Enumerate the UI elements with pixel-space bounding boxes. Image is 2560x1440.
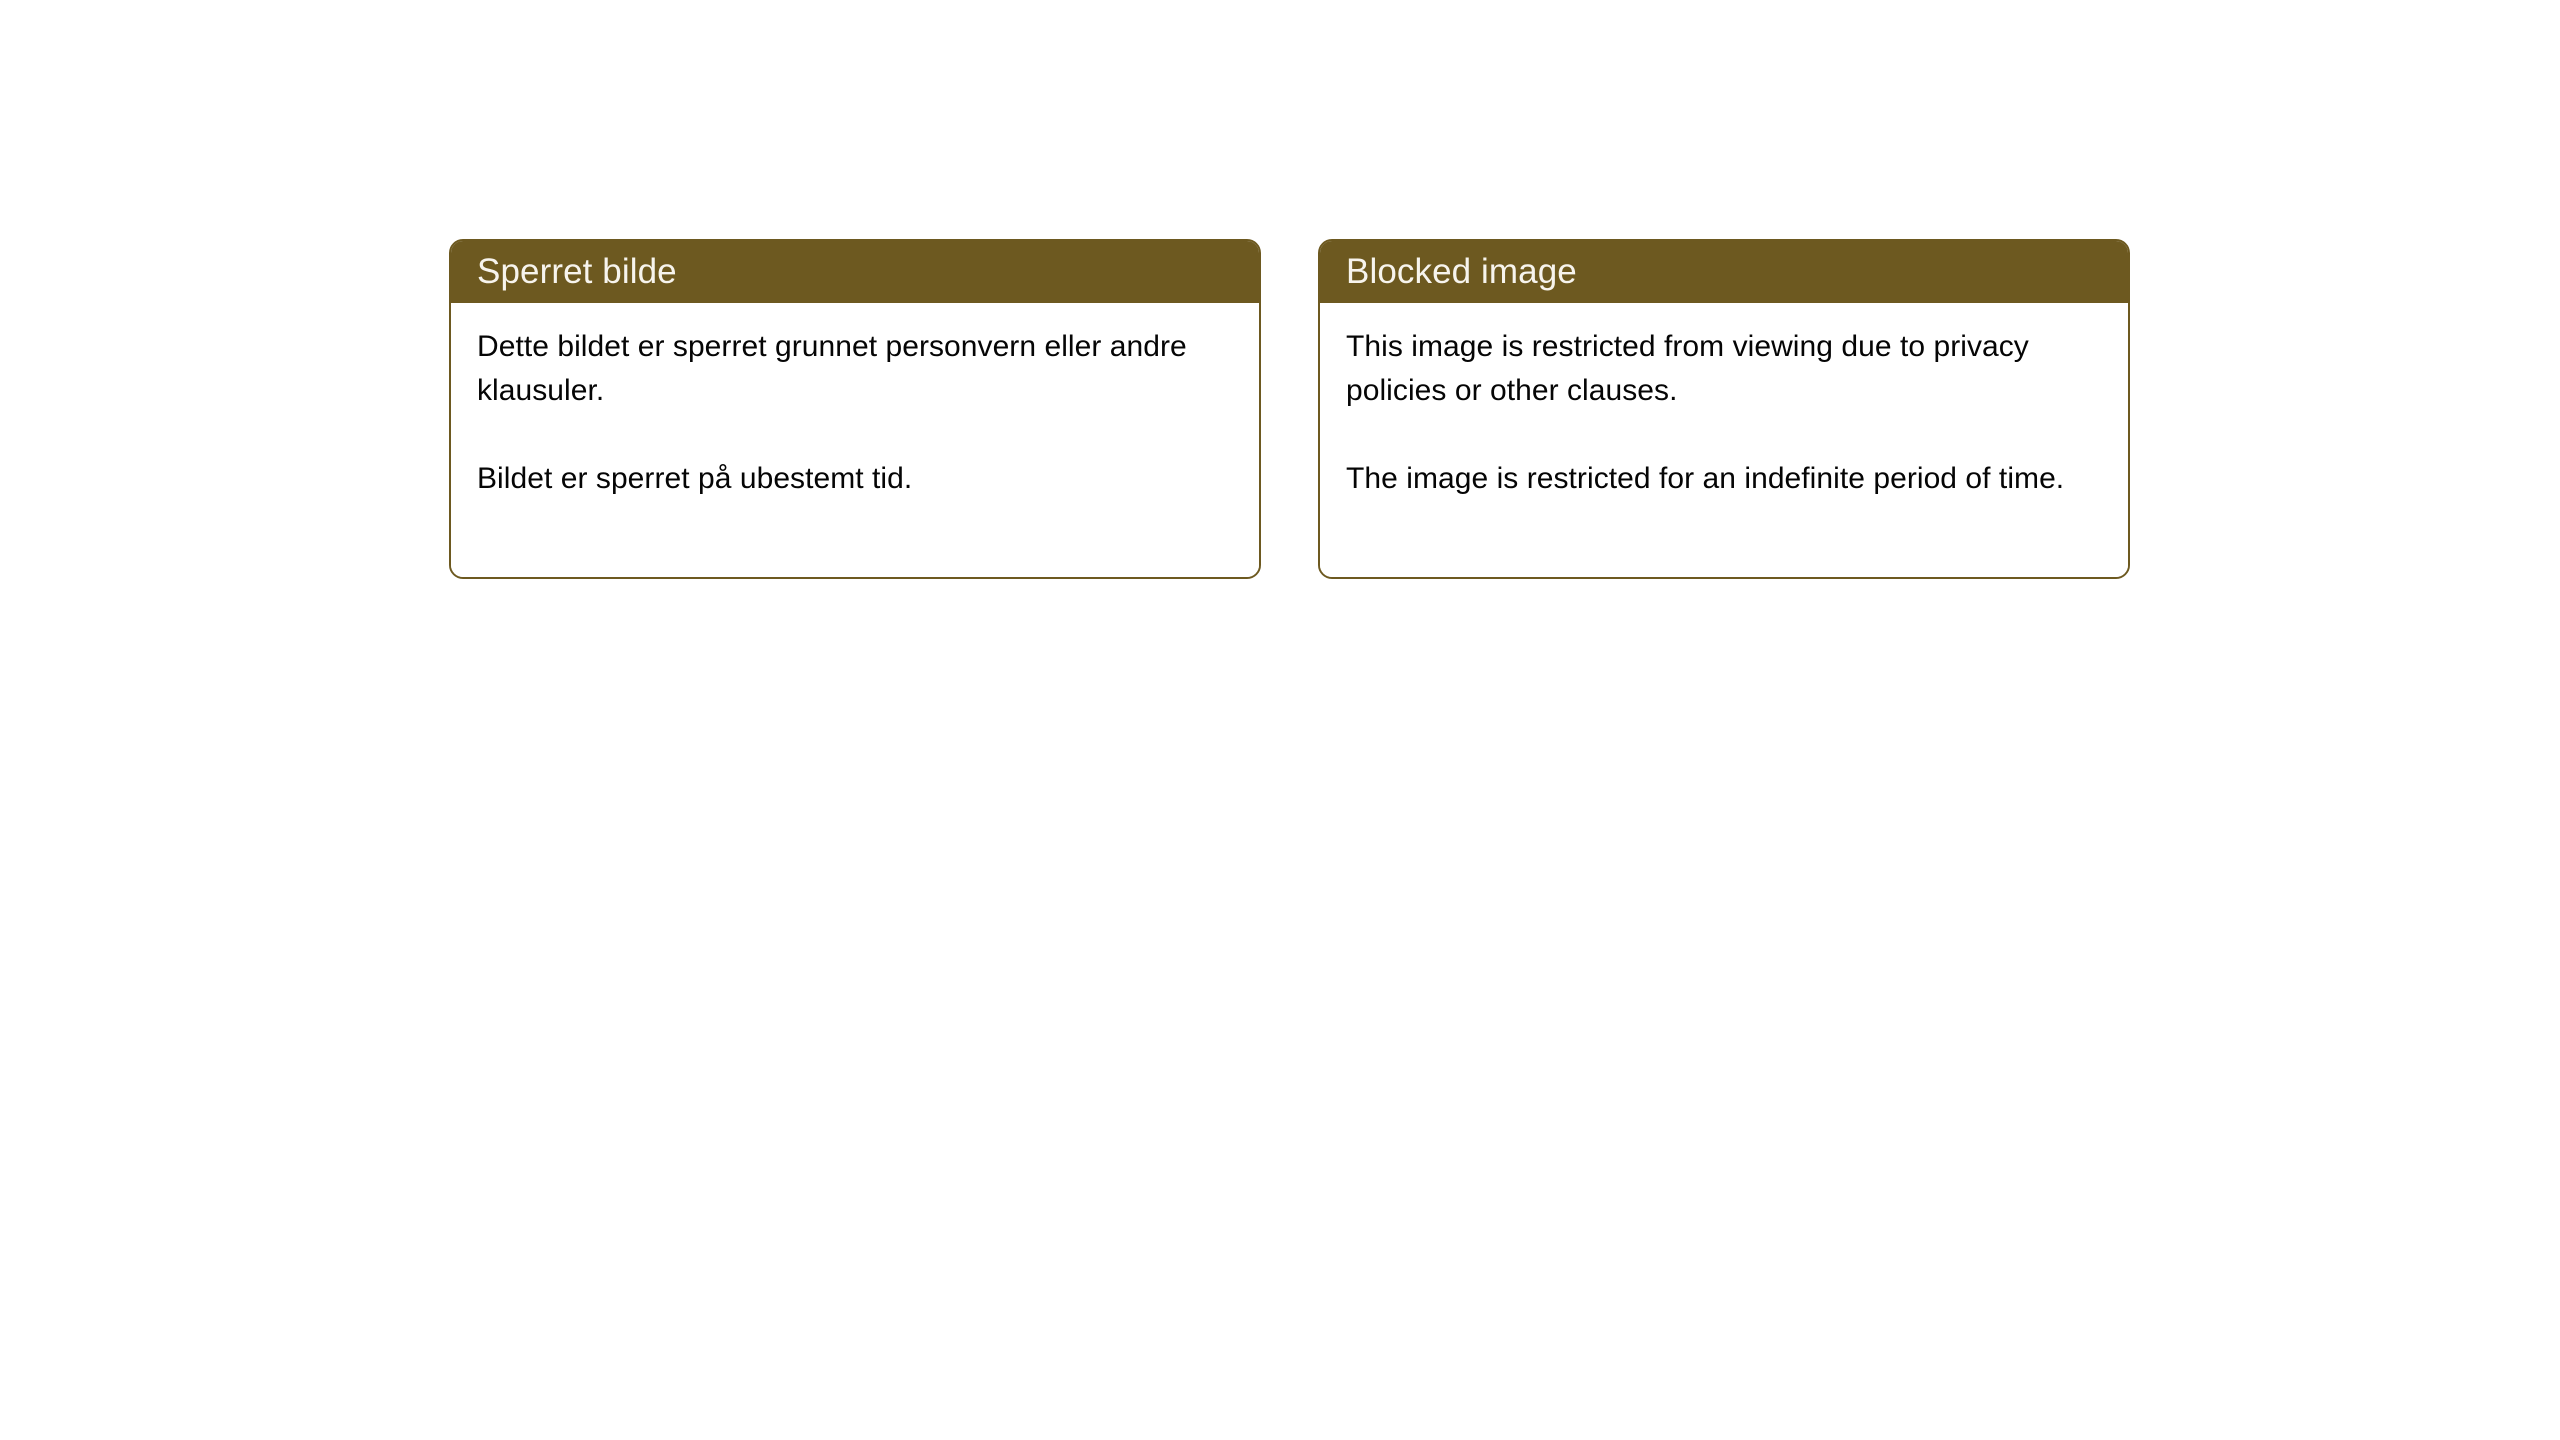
card-paragraph-secondary-norwegian: Bildet er sperret på ubestemt tid. — [477, 457, 1233, 501]
blocked-image-card-norwegian: Sperret bilde Dette bildet er sperret gr… — [449, 239, 1261, 579]
card-paragraph-primary-english: This image is restricted from viewing du… — [1346, 325, 2102, 413]
paragraph-spacer — [1346, 413, 2102, 457]
card-header-english: Blocked image — [1320, 241, 2128, 303]
card-paragraph-primary-norwegian: Dette bildet er sperret grunnet personve… — [477, 325, 1233, 413]
card-header-norwegian: Sperret bilde — [451, 241, 1259, 303]
card-title-norwegian: Sperret bilde — [477, 252, 677, 292]
card-paragraph-secondary-english: The image is restricted for an indefinit… — [1346, 457, 2102, 501]
blocked-image-card-english: Blocked image This image is restricted f… — [1318, 239, 2130, 579]
card-body-english: This image is restricted from viewing du… — [1320, 303, 2128, 577]
page-root: Sperret bilde Dette bildet er sperret gr… — [0, 0, 2560, 1440]
paragraph-spacer — [477, 413, 1233, 457]
notice-cards-row: Sperret bilde Dette bildet er sperret gr… — [449, 239, 2130, 579]
card-title-english: Blocked image — [1346, 252, 1577, 292]
card-body-norwegian: Dette bildet er sperret grunnet personve… — [451, 303, 1259, 577]
